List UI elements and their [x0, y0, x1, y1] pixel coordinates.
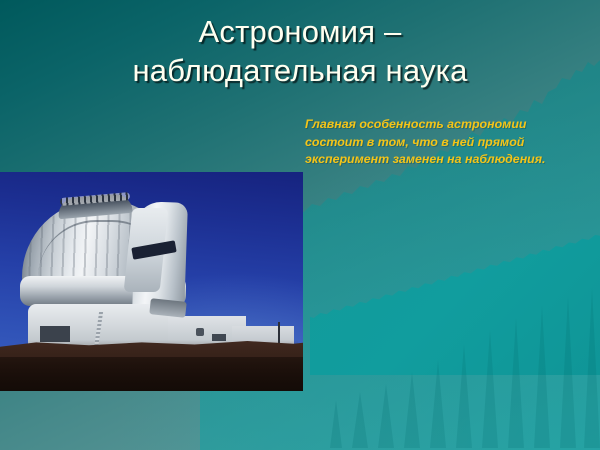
slide-body-text: Главная особенность астрономии состоит в…	[305, 116, 587, 169]
slide-title: Астрономия – наблюдательная наука	[0, 12, 600, 90]
photo-building-window-1	[196, 328, 204, 336]
body-text-line-2: состоит в том, что в ней прямой	[305, 134, 587, 152]
photo-volcanic-ground-dark	[0, 357, 303, 391]
body-text-line-1: Главная особенность астрономии	[305, 116, 587, 134]
observatory-photo	[0, 172, 303, 391]
presentation-slide: Астрономия – наблюдательная наука Главна…	[0, 0, 600, 450]
body-text-line-3: эксперимент заменен на наблюдения.	[305, 151, 587, 169]
